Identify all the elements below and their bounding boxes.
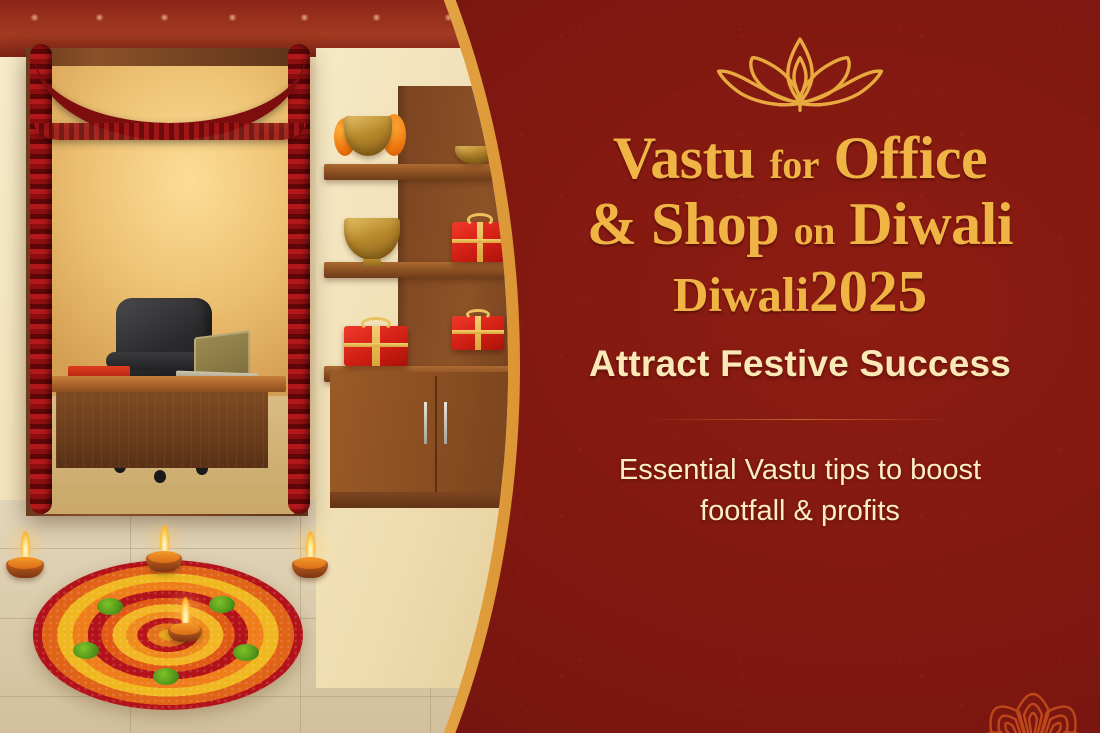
tagline-line-1: Essential Vastu tips to boost [619, 450, 981, 491]
diwali-vastu-banner: Vastu for Office & Shop on Diwali Diwali… [0, 0, 1100, 733]
red-gift-box [452, 316, 504, 350]
chair-castor [154, 470, 166, 483]
title-line2-small: on [794, 208, 835, 253]
photo-gold-curve-border [0, 0, 540, 733]
flower-garland-right [288, 44, 310, 514]
page-title: Vastu for Office & Shop on Diwali Diwali… [530, 128, 1070, 321]
tagline: Essential Vastu tips to boost footfall &… [619, 450, 981, 532]
rangoli-leaf [73, 642, 99, 659]
rangoli-leaf [97, 598, 123, 615]
title-line2-part1: & Shop [587, 191, 779, 257]
ceiling-lights [0, 14, 540, 34]
diya-lamp [146, 542, 182, 572]
title-line1-small: for [769, 142, 819, 187]
office-photo [0, 0, 540, 733]
content-panel: Vastu for Office & Shop on Diwali Diwali… [500, 0, 1100, 733]
lotus-icon [715, 34, 885, 112]
rangoli-leaf [153, 668, 179, 685]
title-line3-word: Diwali [673, 267, 809, 322]
diya-lamp [6, 548, 44, 578]
diya-lamp-center [168, 614, 202, 640]
tagline-line-2: footfall & profits [619, 491, 981, 532]
title-line1-part2: Office [834, 125, 988, 191]
title-year: 2025 [809, 258, 927, 324]
diya-lamp [292, 548, 328, 578]
rangoli-leaf [209, 596, 235, 613]
office-desk-body [56, 392, 268, 468]
divider-line [644, 419, 956, 420]
subtitle: Attract Festive Success [589, 343, 1011, 385]
flower-garland-swag [34, 40, 306, 140]
red-gift-box [344, 326, 408, 366]
office-desk-top [50, 376, 286, 392]
flower-garland-left [30, 44, 52, 514]
title-line1-part1: Vastu [613, 125, 755, 191]
rangoli-leaf [233, 644, 259, 661]
title-line2-part2: Diwali [849, 191, 1013, 257]
